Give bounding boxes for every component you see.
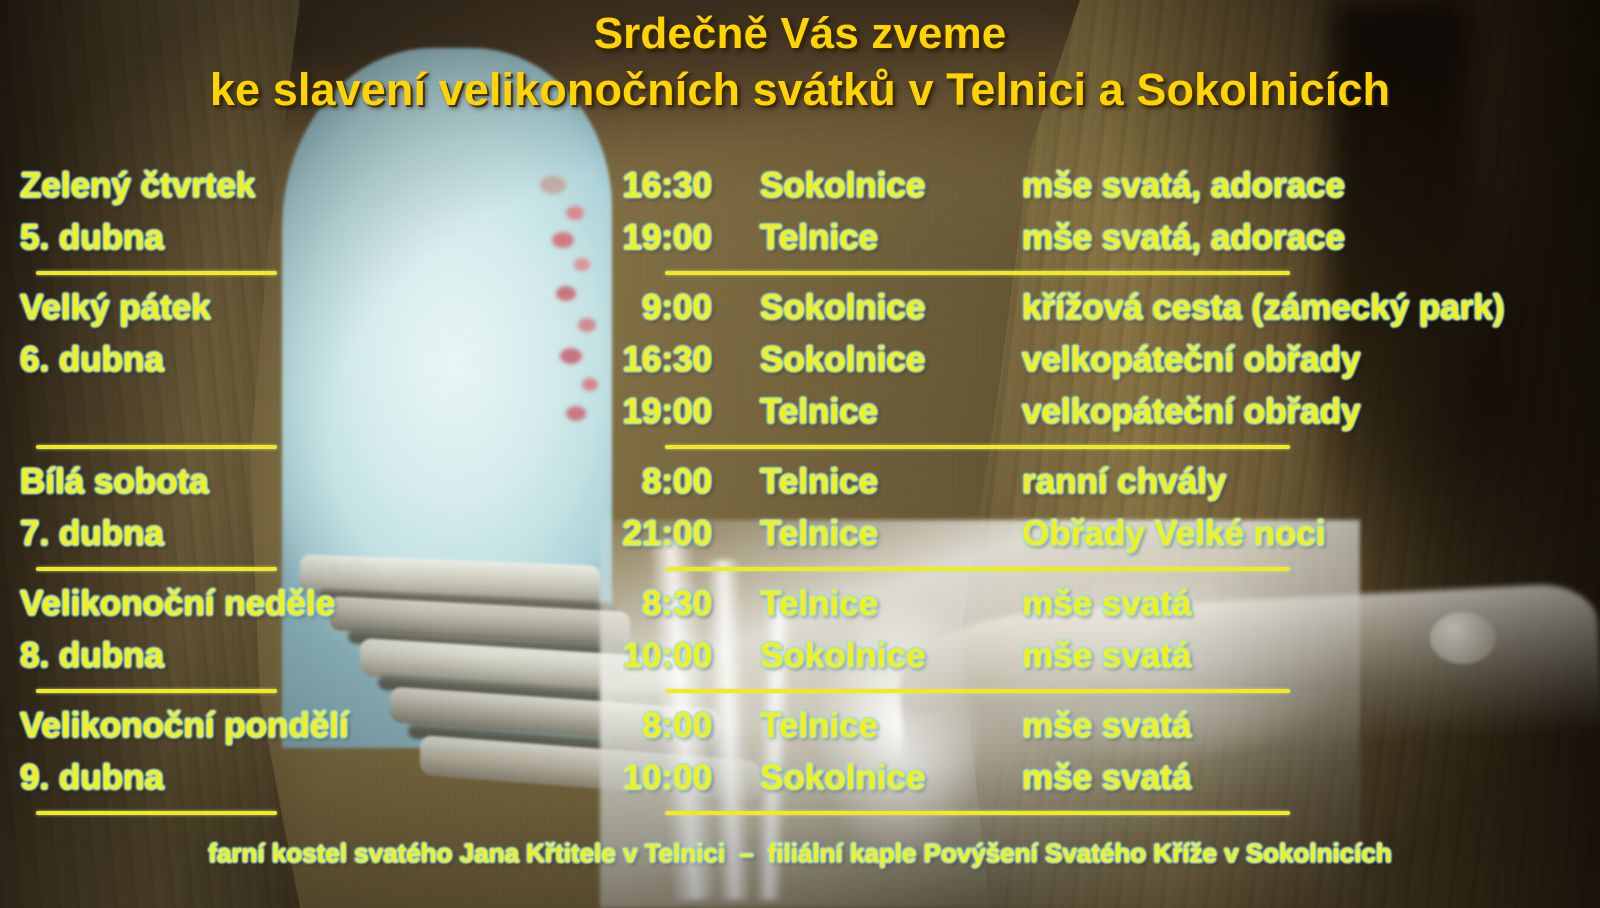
schedule-service-note: ranní chvály <box>1022 462 1600 502</box>
schedule-service-note: velkopáteční obřady <box>1022 392 1600 432</box>
poster-text-layer: Srdečně Vás zveme ke slavení velikonoční… <box>0 0 1600 908</box>
schedule-row: Bílá sobota8:00Telniceranní chvály <box>0 456 1600 508</box>
schedule-group-separator <box>0 682 1600 700</box>
schedule-place: Telnice <box>760 218 1010 258</box>
schedule-group-separator <box>0 560 1600 578</box>
schedule-service-note: mše svatá <box>1022 636 1600 676</box>
schedule-group: Bílá sobota8:00Telniceranní chvály7. dub… <box>0 456 1600 560</box>
schedule-row: 5. dubna19:00Telnicemše svatá, adorace <box>0 212 1600 264</box>
schedule-time: 16:30 <box>520 340 712 380</box>
schedule-group-separator <box>0 804 1600 822</box>
schedule-time: 19:00 <box>520 218 712 258</box>
schedule-place: Telnice <box>760 514 1010 554</box>
separator-rule-right <box>665 567 1290 571</box>
schedule-place: Telnice <box>760 392 1010 432</box>
schedule-group: Velký pátek9:00Sokolnicekřížová cesta (z… <box>0 282 1600 438</box>
separator-rule-right <box>665 689 1290 693</box>
schedule-place: Telnice <box>760 462 1010 502</box>
schedule-time: 8:30 <box>520 584 712 624</box>
schedule-place: Sokolnice <box>760 166 1010 206</box>
schedule-time: 16:30 <box>520 166 712 206</box>
schedule-group: Velikonoční neděle8:30Telnicemše svatá8.… <box>0 578 1600 682</box>
schedule-row: 9. dubna10:00Sokolnicemše svatá <box>0 752 1600 804</box>
schedule-service-note: mše svatá, adorace <box>1022 218 1600 258</box>
separator-rule-left <box>36 567 277 571</box>
schedule-service-note: velkopáteční obřady <box>1022 340 1600 380</box>
schedule-service-note: Obřady Velké noci <box>1022 514 1600 554</box>
schedule-time: 8:00 <box>520 706 712 746</box>
separator-rule-right <box>665 445 1290 449</box>
schedule-row: Velký pátek9:00Sokolnicekřížová cesta (z… <box>0 282 1600 334</box>
separator-rule-left <box>36 445 277 449</box>
poster-title: Srdečně Vás zveme ke slavení velikonoční… <box>0 8 1600 116</box>
footer-separator-dash: – <box>739 838 753 868</box>
easter-schedule-poster: Srdečně Vás zveme ke slavení velikonoční… <box>0 0 1600 908</box>
schedule-place: Sokolnice <box>760 288 1010 328</box>
schedule-group: Velikonoční pondělí8:00Telnicemše svatá9… <box>0 700 1600 804</box>
schedule-time: 19:00 <box>520 392 712 432</box>
service-schedule-table: Zelený čtvrtek16:30Sokolnicemše svatá, a… <box>0 160 1600 822</box>
schedule-service-note: mše svatá <box>1022 584 1600 624</box>
poster-footer: farní kostel svatého Jana Křtitele v Tel… <box>0 838 1600 869</box>
schedule-place: Sokolnice <box>760 340 1010 380</box>
schedule-time: 21:00 <box>520 514 712 554</box>
schedule-row: 19:00Telnicevelkopáteční obřady <box>0 386 1600 438</box>
schedule-row: Velikonoční neděle8:30Telnicemše svatá <box>0 578 1600 630</box>
schedule-row: 7. dubna21:00TelniceObřady Velké noci <box>0 508 1600 560</box>
schedule-row: 8. dubna10:00Sokolnicemše svatá <box>0 630 1600 682</box>
schedule-place: Sokolnice <box>760 636 1010 676</box>
schedule-service-note: mše svatá, adorace <box>1022 166 1600 206</box>
title-line-2: ke slavení velikonočních svátků v Telnic… <box>0 63 1600 116</box>
separator-rule-right <box>665 811 1290 815</box>
schedule-place: Telnice <box>760 584 1010 624</box>
schedule-time: 10:00 <box>520 636 712 676</box>
title-line-1: Srdečně Vás zveme <box>0 8 1600 60</box>
separator-rule-right <box>665 271 1290 275</box>
separator-rule-left <box>36 811 277 815</box>
schedule-row: 6. dubna16:30Sokolnicevelkopáteční obřad… <box>0 334 1600 386</box>
schedule-group-separator <box>0 264 1600 282</box>
schedule-service-note: mše svatá <box>1022 706 1600 746</box>
schedule-place: Sokolnice <box>760 758 1010 798</box>
schedule-group-separator <box>0 438 1600 456</box>
schedule-place: Telnice <box>760 706 1010 746</box>
schedule-time: 8:00 <box>520 462 712 502</box>
footer-parish-church: farní kostel svatého Jana Křtitele v Tel… <box>208 838 725 868</box>
schedule-row: Velikonoční pondělí8:00Telnicemše svatá <box>0 700 1600 752</box>
separator-rule-left <box>36 271 277 275</box>
schedule-time: 10:00 <box>520 758 712 798</box>
schedule-time: 9:00 <box>520 288 712 328</box>
schedule-service-note: mše svatá <box>1022 758 1600 798</box>
separator-rule-left <box>36 689 277 693</box>
footer-filial-chapel: filiální kaple Povýšení Svatého Kříže v … <box>768 838 1392 868</box>
schedule-row: Zelený čtvrtek16:30Sokolnicemše svatá, a… <box>0 160 1600 212</box>
schedule-group: Zelený čtvrtek16:30Sokolnicemše svatá, a… <box>0 160 1600 264</box>
schedule-service-note: křížová cesta (zámecký park) <box>1022 288 1600 328</box>
